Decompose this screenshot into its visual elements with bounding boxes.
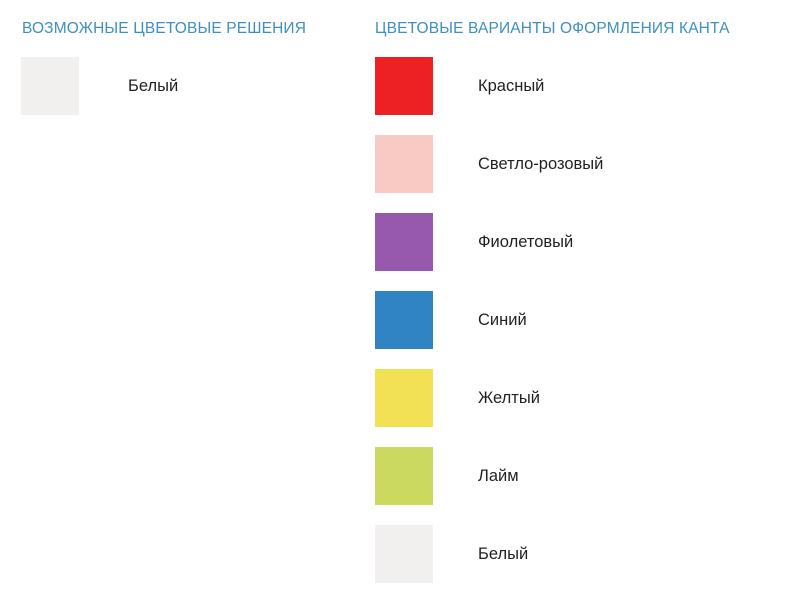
color-swatch-chip[interactable] (375, 525, 433, 583)
color-column-possible-solutions: ВОЗМОЖНЫЕ ЦВЕТОВЫЕ РЕШЕНИЯ Белый (0, 0, 370, 600)
swatch-list-possible-solutions: Белый (0, 57, 370, 135)
color-swatch-chip[interactable] (21, 57, 79, 115)
color-swatch-chip[interactable] (375, 369, 433, 427)
color-swatch-label: Белый (478, 525, 528, 583)
swatch-row[interactable]: Синий (370, 291, 800, 369)
swatch-row[interactable]: Белый (0, 57, 370, 135)
column-title-edge-trim-variants: ЦВЕТОВЫЕ ВАРИАНТЫ ОФОРМЛЕНИЯ КАНТА (375, 20, 730, 38)
color-swatch-label: Белый (128, 57, 178, 115)
color-column-edge-trim-variants: ЦВЕТОВЫЕ ВАРИАНТЫ ОФОРМЛЕНИЯ КАНТА Красн… (370, 0, 800, 600)
color-swatch-chip[interactable] (375, 135, 433, 193)
swatch-row[interactable]: Красный (370, 57, 800, 135)
color-swatch-label: Лайм (478, 447, 519, 505)
color-swatch-chip[interactable] (375, 291, 433, 349)
color-swatch-label: Красный (478, 57, 544, 115)
color-swatch-label: Светло-розовый (478, 135, 603, 193)
swatch-row[interactable]: Фиолетовый (370, 213, 800, 291)
swatch-row[interactable]: Желтый (370, 369, 800, 447)
swatch-list-edge-trim-variants: КрасныйСветло-розовыйФиолетовыйСинийЖелт… (370, 57, 800, 603)
color-swatch-chip[interactable] (375, 57, 433, 115)
swatch-row[interactable]: Светло-розовый (370, 135, 800, 213)
color-swatch-chip[interactable] (375, 213, 433, 271)
color-swatch-label: Желтый (478, 369, 540, 427)
color-swatch-label: Синий (478, 291, 527, 349)
color-swatch-chip[interactable] (375, 447, 433, 505)
color-swatch-label: Фиолетовый (478, 213, 573, 271)
swatch-row[interactable]: Белый (370, 525, 800, 603)
color-options-board: ВОЗМОЖНЫЕ ЦВЕТОВЫЕ РЕШЕНИЯ Белый ЦВЕТОВЫ… (0, 0, 800, 600)
column-title-possible-solutions: ВОЗМОЖНЫЕ ЦВЕТОВЫЕ РЕШЕНИЯ (22, 20, 306, 38)
swatch-row[interactable]: Лайм (370, 447, 800, 525)
